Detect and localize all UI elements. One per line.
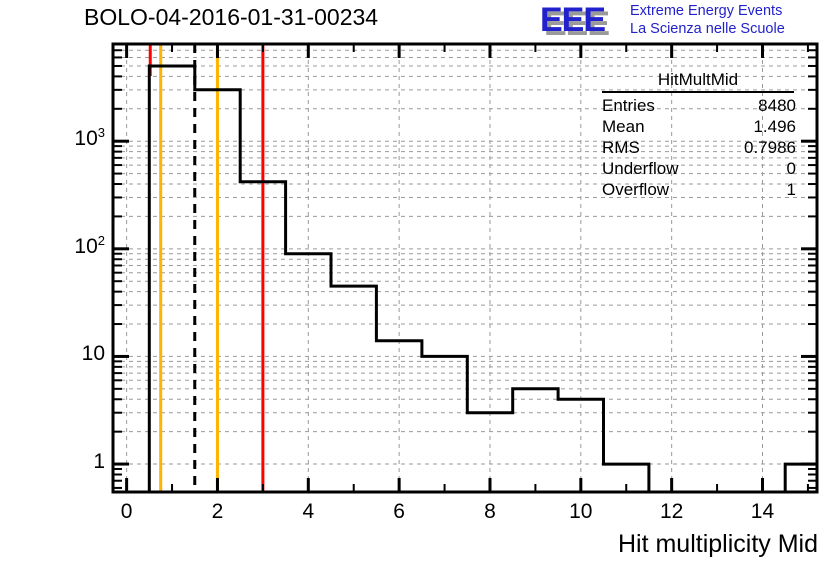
x-tick-label: 4 <box>278 500 338 524</box>
stats-value: 8480 <box>758 95 796 116</box>
stats-key: Entries <box>602 95 655 116</box>
y-tick-label: 102 <box>74 235 105 259</box>
eee-logo: EEE EEE Extreme Energy Events La Scienza… <box>540 2 836 40</box>
stats-row: Underflow0 <box>596 158 800 179</box>
marker-lines-layer <box>150 44 263 492</box>
stats-key: Overflow <box>602 179 669 200</box>
x-axis-title: Hit multiplicity Mid <box>618 530 818 559</box>
eee-logo-mark: EEE <box>540 2 605 38</box>
eee-logo-line2: La Scienza nelle Scuole <box>630 21 785 37</box>
x-tick-label: 6 <box>369 500 429 524</box>
eee-logo-line1: Extreme Energy Events <box>630 3 782 19</box>
stats-value: 1.496 <box>753 116 796 137</box>
x-tick-label: 2 <box>187 500 247 524</box>
stats-value: 0.7986 <box>744 137 796 158</box>
stats-box-title: HitMultMid <box>602 70 794 93</box>
x-tick-label: 0 <box>97 500 157 524</box>
stats-key: RMS <box>602 137 640 158</box>
stats-row: RMS0.7986 <box>596 137 800 158</box>
page-title: BOLO-04-2016-01-31-00234 <box>84 4 378 31</box>
x-tick-label: 12 <box>642 500 702 524</box>
x-tick-label: 10 <box>551 500 611 524</box>
stats-key: Mean <box>602 116 645 137</box>
x-tick-label: 14 <box>732 500 792 524</box>
stats-row: Entries8480 <box>596 95 800 116</box>
y-tick-label: 1 <box>93 450 105 474</box>
y-tick-label: 10 <box>82 342 105 366</box>
y-tick-label: 103 <box>74 127 105 151</box>
x-tick-label: 8 <box>460 500 520 524</box>
stats-row: Overflow1 <box>596 179 800 200</box>
stats-key: Underflow <box>602 158 679 179</box>
stats-value: 0 <box>787 158 796 179</box>
stats-row: Mean1.496 <box>596 116 800 137</box>
stats-value: 1 <box>787 179 796 200</box>
stats-rows: Entries8480Mean1.496RMS0.7986Underflow0O… <box>596 95 800 200</box>
stats-box: HitMultMid Entries8480Mean1.496RMS0.7986… <box>596 70 800 202</box>
